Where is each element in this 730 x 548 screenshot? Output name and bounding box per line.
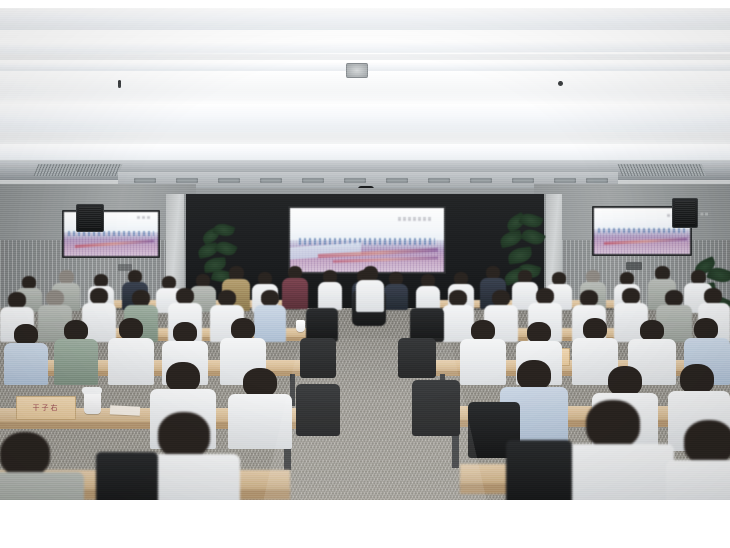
ceiling-slot-vent — [428, 178, 450, 183]
attendee — [384, 272, 408, 310]
main-screen-skyline — [299, 238, 435, 245]
attendee — [108, 318, 154, 384]
chair — [96, 452, 158, 500]
ceiling-slot-vent — [344, 178, 366, 183]
attendee — [4, 324, 48, 384]
nameplate-text: 干子右 — [33, 403, 60, 413]
chair — [506, 440, 572, 500]
ceiling-slot-vent — [386, 178, 408, 183]
attendee — [416, 274, 440, 310]
ceiling-slot-vent — [512, 178, 534, 183]
attendee — [54, 320, 98, 384]
screen-watermark — [137, 216, 152, 219]
ceiling-light-strip — [0, 104, 730, 132]
ceiling-slot-vent — [260, 178, 282, 183]
chair — [410, 308, 444, 342]
screenshot-root: ■■ — [0, 0, 730, 548]
ceiling-trim — [0, 132, 730, 144]
ceiling-camera-icon — [558, 81, 563, 86]
ceiling-slot-vent — [176, 178, 198, 183]
left-screen-skyline — [68, 231, 154, 236]
attendee — [556, 400, 674, 500]
ceiling-slot-vent — [218, 178, 240, 183]
table-nameplate: 干子右 — [16, 396, 76, 420]
ceiling-slot-vent — [302, 178, 324, 183]
conference-room-photo: ■■ — [0, 8, 730, 500]
ceiling-trim — [0, 54, 730, 60]
chair — [306, 308, 338, 342]
main-led-screen[interactable] — [290, 208, 444, 272]
ceiling-slot-vent — [470, 178, 492, 183]
attendee — [0, 432, 84, 500]
tea-cup-icon — [296, 320, 305, 332]
wall-plaque — [626, 262, 642, 270]
tea-cup-lid-icon — [82, 387, 102, 394]
wall-speaker-icon — [76, 204, 104, 232]
ceiling-slot-vent — [554, 178, 576, 183]
wall-sign-text: ■■ — [700, 212, 709, 218]
ceiling-light-strip — [0, 8, 730, 30]
ceiling-vent-grille — [34, 164, 123, 176]
right-screen-skyline — [598, 228, 686, 233]
tea-cup-icon — [84, 392, 101, 414]
ceiling-slot-vent — [586, 178, 608, 183]
ceiling-slot-vent — [134, 178, 156, 183]
smoke-detector-icon — [346, 63, 368, 78]
screen-watermark — [398, 217, 432, 221]
wall-speaker-icon — [672, 198, 698, 228]
attendee — [318, 270, 342, 310]
attendee — [666, 420, 730, 500]
ceiling-vent-grille — [618, 164, 707, 176]
attendee-center — [356, 266, 384, 314]
ceiling-camera-icon — [118, 80, 121, 88]
